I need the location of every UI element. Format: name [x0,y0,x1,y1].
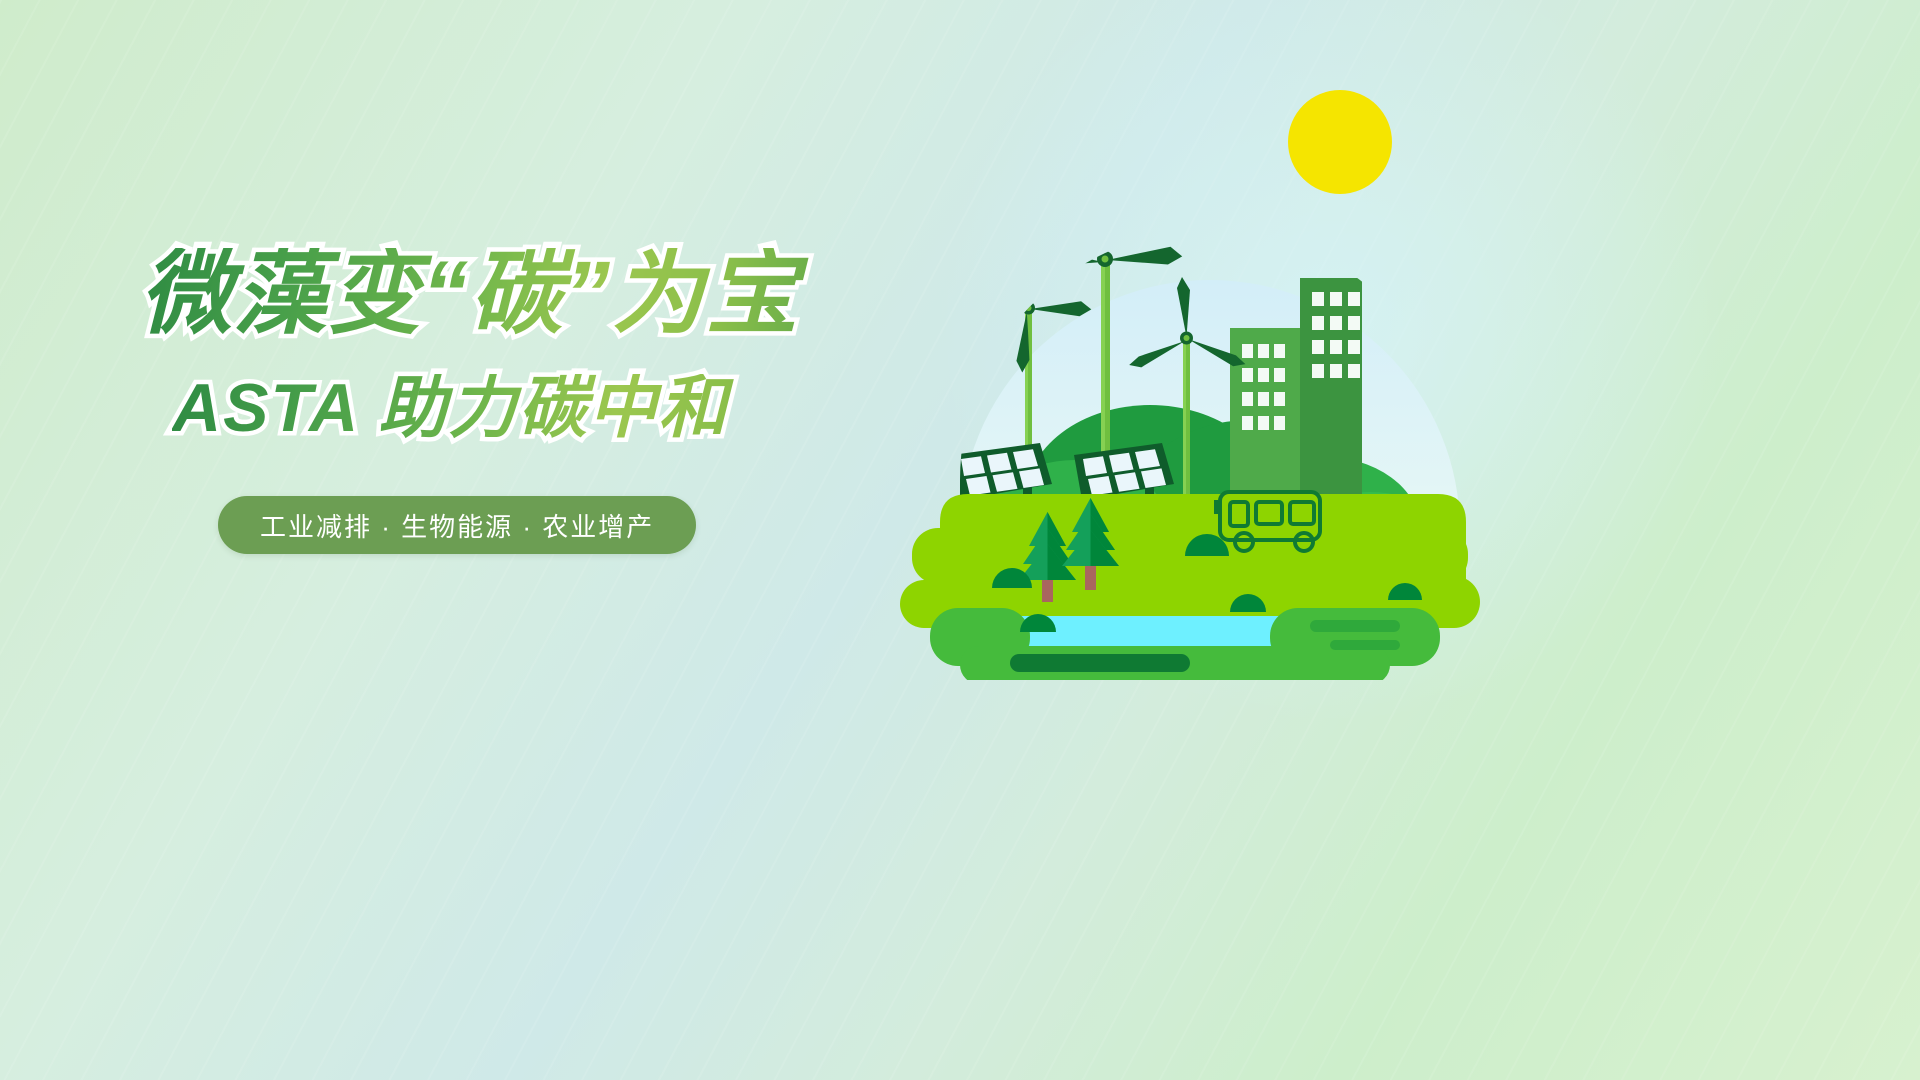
page-subtitle: ASTA 助力碳中和 [172,374,840,442]
title-main-wrapper: 微藻变“碳”为宝 微藻变“碳”为宝 [140,248,840,352]
grass-layer-top [912,494,1468,584]
tagline-badge: 工业减排 · 生物能源 · 农业增产 [218,496,696,554]
eco-scene-svg [900,60,1520,680]
page-title: 微藻变“碳”为宝 [140,248,840,340]
eco-banner: 微藻变“碳”为宝 微藻变“碳”为宝 ASTA 助力碳中和 ASTA 助力碳中和 … [0,0,1920,1080]
green-city-illustration [900,60,1520,680]
headline-block: 微藻变“碳”为宝 微藻变“碳”为宝 ASTA 助力碳中和 ASTA 助力碳中和 … [140,248,840,554]
subtitle-wrapper: ASTA 助力碳中和 ASTA 助力碳中和 [172,374,840,460]
